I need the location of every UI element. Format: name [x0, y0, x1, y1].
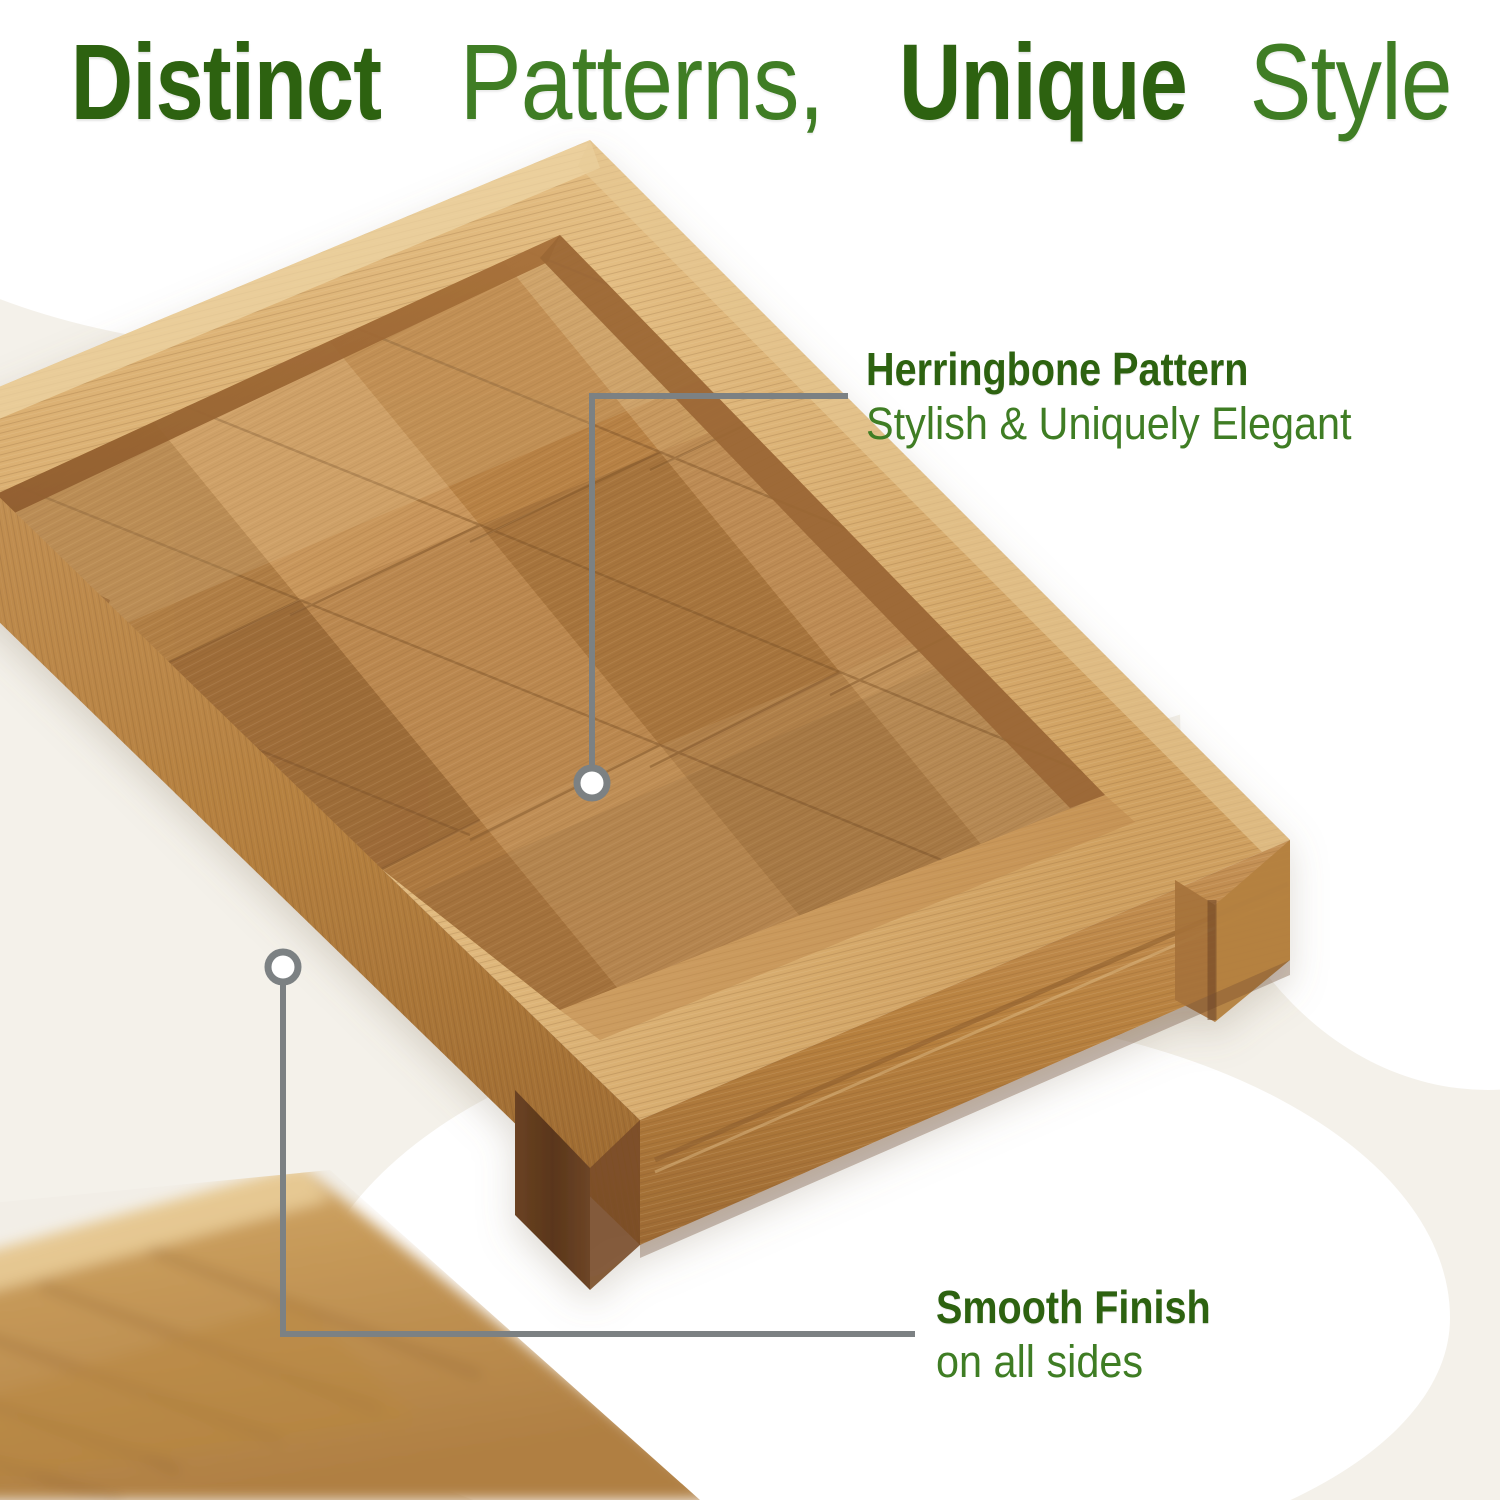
callout-herringbone-subtitle: Stylish & Uniquely Elegant: [866, 399, 1352, 449]
callout-herringbone-title: Herringbone Pattern: [866, 345, 1320, 395]
product-infographic: DistinctPatterns,UniqueStyle Herringbone…: [0, 0, 1500, 1500]
callout-smooth-finish-subtitle: on all sides: [936, 1337, 1230, 1387]
callout-dot-smooth-finish[interactable]: [268, 952, 298, 982]
callout-leader-lines: [0, 0, 1500, 1500]
leader-line-smooth-finish: [283, 980, 912, 1334]
callout-dot-herringbone[interactable]: [577, 768, 607, 798]
leader-line-herringbone: [592, 396, 845, 770]
callout-smooth-finish-title: Smooth Finish: [936, 1283, 1211, 1333]
callout-smooth-finish: Smooth Finish on all sides: [936, 1283, 1255, 1387]
callout-herringbone: Herringbone Pattern Stylish & Uniquely E…: [866, 345, 1394, 449]
